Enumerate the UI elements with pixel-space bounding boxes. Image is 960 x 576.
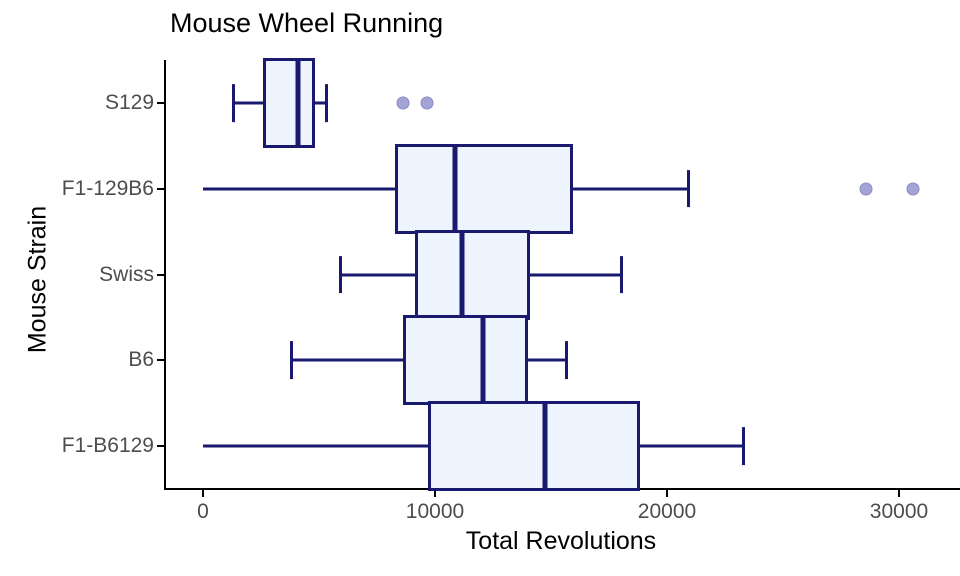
y-tick-label-f1-129b6: F1-129B6 — [0, 177, 154, 201]
chart-title: Mouse Wheel Running — [170, 8, 443, 39]
x-tick-label-10000: 10000 — [406, 500, 464, 524]
y-tick-label-s129: S129 — [0, 91, 154, 115]
x-axis-title: Total Revolutions — [166, 527, 956, 556]
boxplot-f1-b6129[interactable] — [166, 60, 960, 489]
y-tick-label-swiss: Swiss — [0, 263, 154, 287]
y-tick-label-f1-b6129: F1-B6129 — [0, 434, 154, 458]
x-tick-label-20000: 20000 — [638, 500, 696, 524]
median-line — [542, 401, 547, 491]
plot-panel — [166, 60, 960, 489]
x-tick-label-0: 0 — [197, 500, 209, 524]
whisker-lower — [203, 445, 428, 448]
y-tick-mark-s129 — [157, 102, 164, 104]
y-tick-mark-b6 — [157, 359, 164, 361]
x-tick-mark-20000 — [666, 490, 668, 497]
box-iqr — [428, 401, 640, 491]
chart-canvas: Mouse Wheel Running Mouse Strain Total R… — [0, 0, 960, 576]
y-tick-mark-f1-129b6 — [157, 188, 164, 190]
x-tick-label-30000: 30000 — [870, 500, 928, 524]
y-tick-mark-f1-b6129 — [157, 445, 164, 447]
whisker-upper — [640, 445, 745, 448]
x-tick-mark-0 — [202, 490, 204, 497]
y-tick-mark-swiss — [157, 274, 164, 276]
y-tick-label-b6: B6 — [0, 348, 154, 372]
x-tick-mark-30000 — [898, 490, 900, 497]
whisker-cap-upper — [742, 427, 745, 465]
